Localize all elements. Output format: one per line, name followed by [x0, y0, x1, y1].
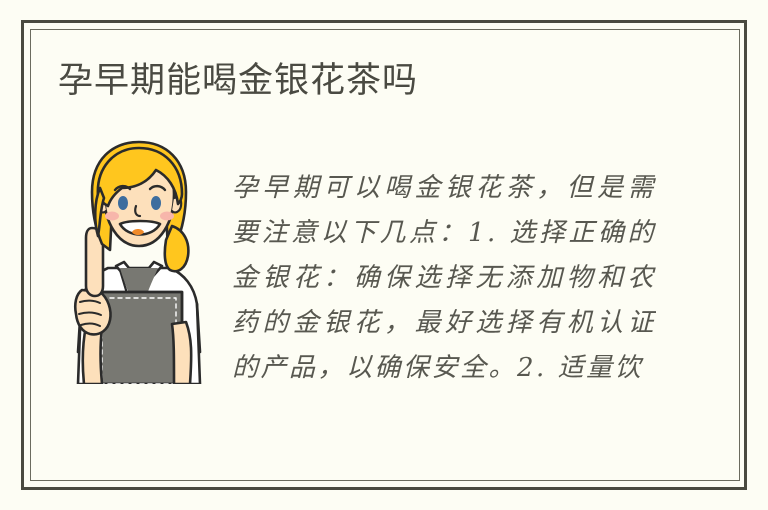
article-card: 孕早期能喝金银花茶吗 [0, 0, 768, 510]
illustration-cartoon-woman [68, 140, 210, 384]
article-body: 孕早期可以喝金银花茶，但是需要注意以下几点：1. 选择正确的金银花：确保选择无添… [232, 166, 656, 391]
article-title: 孕早期能喝金银花茶吗 [58, 58, 418, 104]
